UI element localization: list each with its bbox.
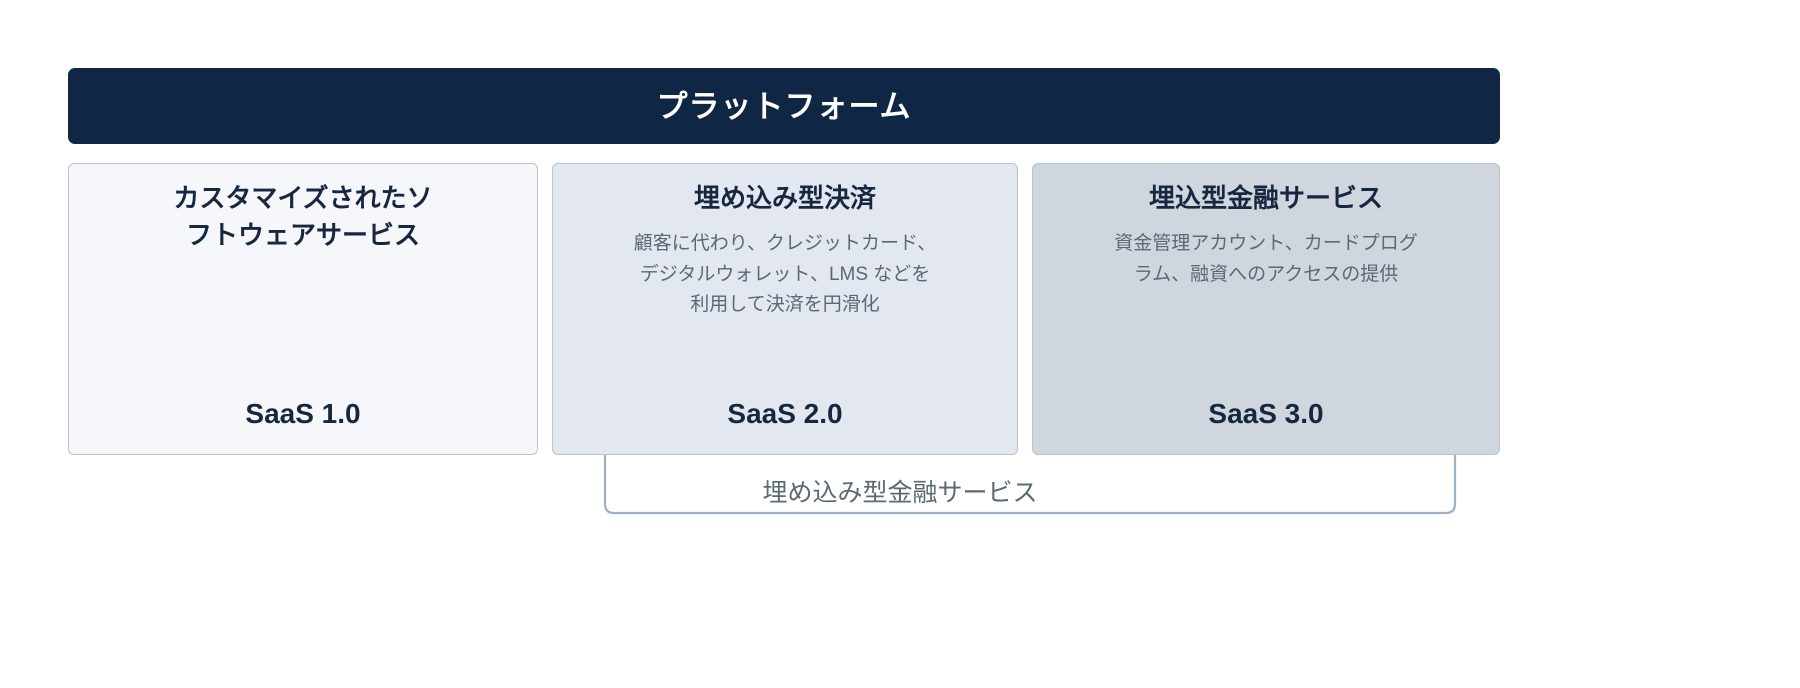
card-saas-2-title: 埋め込み型決済 xyxy=(575,180,995,217)
embedded-finance-bracket xyxy=(0,455,1800,575)
saas-cards-row: カスタマイズされたソ フトウェアサービス SaaS 1.0 埋め込み型決済 顧客… xyxy=(68,163,1500,455)
card-saas-3-body: 資金管理アカウント、カードプログ ラム、融資へのアクセスの提供 xyxy=(1055,229,1477,291)
card-saas-1-tier-label: SaaS 1.0 xyxy=(91,398,515,430)
card-saas-3-title: 埋込型金融サービス xyxy=(1055,180,1477,217)
platform-header-bar: プラットフォーム xyxy=(68,68,1500,144)
card-saas-1-title: カスタマイズされたソ フトウェアサービス xyxy=(91,180,515,254)
card-saas-2-tier-label: SaaS 2.0 xyxy=(575,398,995,430)
embedded-finance-bracket-label: 埋め込み型金融サービス xyxy=(746,479,1053,507)
embedded-finance-diagram: プラットフォーム カスタマイズされたソ フトウェアサービス SaaS 1.0 埋… xyxy=(0,0,1800,688)
platform-header-title: プラットフォーム xyxy=(656,91,911,122)
bracket-path-icon xyxy=(0,455,1800,575)
embedded-finance-bracket-label-wrap: 埋め込み型金融サービス xyxy=(0,481,1800,506)
card-saas-2-body: 顧客に代わり、クレジットカード、 デジタルウォレット、LMS などを 利用して決… xyxy=(575,229,995,321)
card-saas-2[interactable]: 埋め込み型決済 顧客に代わり、クレジットカード、 デジタルウォレット、LMS な… xyxy=(552,163,1018,455)
card-saas-1[interactable]: カスタマイズされたソ フトウェアサービス SaaS 1.0 xyxy=(68,163,538,455)
card-saas-3[interactable]: 埋込型金融サービス 資金管理アカウント、カードプログ ラム、融資へのアクセスの提… xyxy=(1032,163,1500,455)
card-saas-3-tier-label: SaaS 3.0 xyxy=(1055,398,1477,430)
